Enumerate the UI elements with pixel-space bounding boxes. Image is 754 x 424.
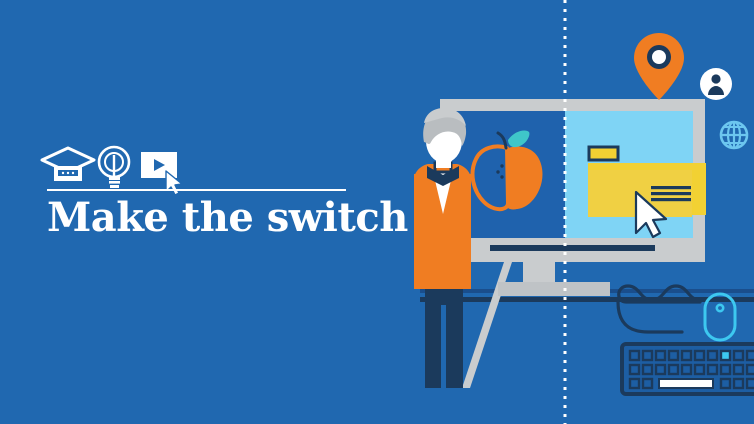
page-title: Make the switch [47, 198, 408, 238]
banner-canvas: Make the switch [0, 0, 754, 424]
lightbulb-base [109, 177, 120, 180]
lightbulb-base [109, 181, 120, 184]
horizontal-rule [47, 189, 346, 191]
lightbulb-icon [99, 147, 129, 188]
graduation-cap-icon [42, 148, 94, 180]
lightbulb-base [110, 185, 119, 188]
